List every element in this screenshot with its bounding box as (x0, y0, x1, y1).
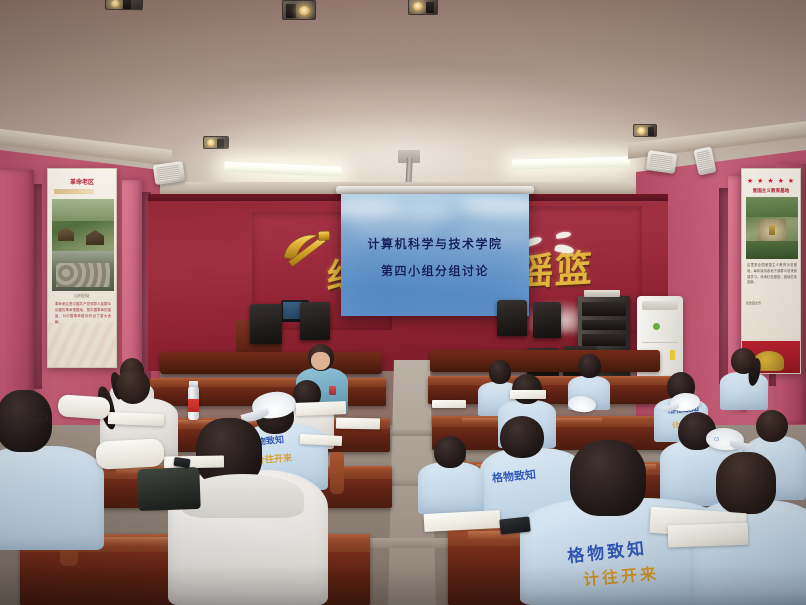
bottle-cap-icon (189, 381, 198, 387)
student-head (756, 410, 788, 442)
open-notebook (108, 412, 164, 426)
folded-cloth (57, 394, 110, 420)
ceiling-spotlight-icon (408, 0, 438, 15)
projection-screen[interactable]: 计算机科学与技术学院 第四小组分组讨论 (341, 194, 529, 316)
poster-left-photo (52, 199, 114, 291)
front-chair (533, 302, 561, 338)
wall-speaker-left-icon (153, 161, 185, 185)
ac-panel-line (642, 342, 678, 343)
front-chair (250, 304, 282, 344)
poster-photo-monument (769, 225, 775, 235)
bottle-label (188, 399, 199, 412)
printed-papers (510, 390, 546, 399)
printed-papers (668, 523, 749, 548)
smartphone-on-desk (499, 516, 530, 534)
poster-right-heading: 爱国主义教育基地 (742, 188, 800, 194)
wall-alcove-left-1 (34, 184, 42, 389)
desk-row-far (430, 350, 660, 372)
front-chair (497, 300, 527, 336)
ac-status-indicator (653, 323, 660, 330)
classroom-photo: 红色 摇篮 计算机科学与技术学院 第四小组分组讨论 革命老区 山村旧址 革命老区… (0, 0, 806, 605)
ac-vent (642, 301, 678, 310)
folded-cloth (95, 438, 164, 470)
rack-top-device (584, 290, 620, 297)
poster-right-body2: 纪念园全景 (746, 301, 766, 306)
wall-speaker-right-icon (646, 150, 678, 174)
student-head (512, 374, 542, 404)
wall-poster-right: ★ ★ ★ ★ ★ 爱国主义教育基地 这里是全国爱国主义教育示范基地，每年接待各… (741, 168, 801, 374)
rack-unit (582, 302, 626, 316)
eyeglasses-icon (22, 414, 48, 421)
wall-pillar-left-1 (0, 170, 34, 420)
screen-title-line1: 计算机科学与技术学院 (341, 235, 529, 252)
ac-warning-sticker (670, 350, 675, 360)
poster-photo-hut (86, 230, 104, 245)
bench-armrest (330, 452, 344, 494)
front-chair (300, 302, 330, 340)
speaker-grille (649, 153, 673, 170)
student-head (570, 440, 646, 516)
printed-papers (432, 400, 466, 408)
water-bottle (188, 386, 199, 420)
open-notebook (336, 418, 380, 430)
desk-row-far (160, 352, 382, 374)
cpc-hammer-sickle-emblem (277, 226, 335, 272)
ceiling-spotlight-icon (633, 124, 657, 137)
projection-screen-roller-case (336, 186, 534, 194)
student-head (434, 436, 466, 468)
poster-photo-rocks (56, 263, 110, 287)
student-body-foreground (0, 446, 104, 550)
student-body (418, 462, 484, 514)
student-head (716, 452, 776, 514)
poster-left-pattern (48, 323, 116, 367)
poster-photo-sky (52, 199, 114, 221)
rack-unit (582, 334, 626, 346)
desk-surface (428, 376, 672, 385)
student-head (0, 390, 52, 452)
poster-left-caption: 山村旧址 (48, 293, 116, 299)
speaker-grille (696, 150, 713, 171)
student-head (489, 360, 511, 384)
student-head (116, 368, 150, 404)
poster-left-subline (54, 189, 94, 194)
desk-surface (150, 378, 386, 387)
wall-alcove-right-1 (719, 188, 728, 384)
poster-photo-hut (58, 227, 74, 241)
poster-right-photo (746, 197, 798, 259)
emblem-svg (277, 226, 335, 272)
open-notebook (296, 401, 346, 416)
cap-text: CS (714, 436, 720, 441)
backpack-on-bench (137, 467, 200, 511)
poster-photo-hills (746, 197, 798, 217)
instructor-badge (329, 386, 336, 395)
student-head (500, 416, 544, 458)
poster-right-body: 这里是全国爱国主义教育示范基地，每年接待各地干部群众前来参观学习，传承红色基因，… (747, 263, 797, 286)
wall-poster-left: 革命老区 山村旧址 革命老区是中国共产党领导人民群众创建的革命根据地，是中国革命… (47, 168, 117, 368)
printed-papers (300, 434, 342, 446)
poster-right-stars: ★ ★ ★ ★ ★ (742, 177, 800, 185)
instructor-face (311, 352, 330, 370)
ceiling-spotlight-icon (105, 0, 143, 10)
student-body (720, 372, 768, 410)
ceiling-spotlight-icon (282, 0, 316, 20)
speaker-grille (156, 165, 181, 182)
poster-photo-trees (746, 241, 798, 259)
screen-title-line2: 第四小组分组讨论 (341, 262, 529, 279)
poster-left-heading: 革命老区 (48, 177, 116, 186)
student-head (578, 354, 601, 378)
rack-unit (582, 320, 626, 330)
